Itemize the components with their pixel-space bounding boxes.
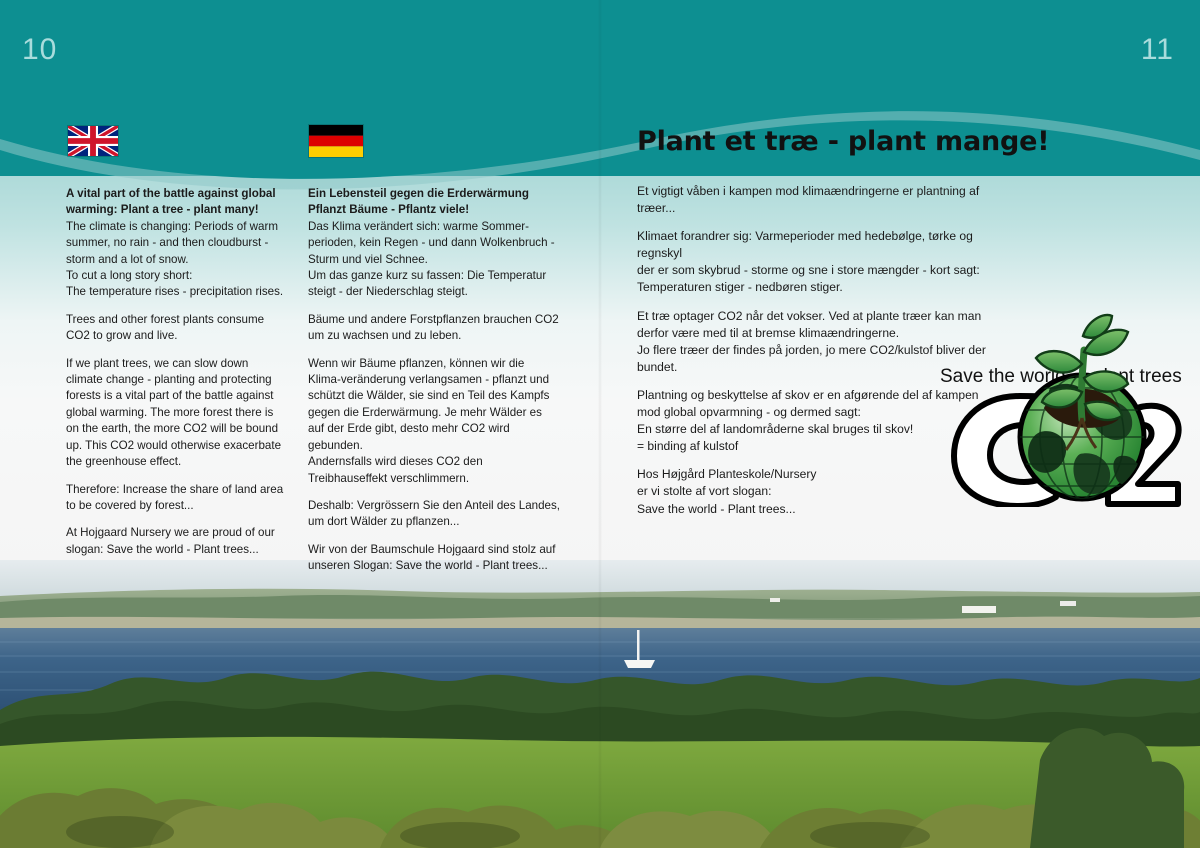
german-paragraph-3: Deshalb: Vergrössern Sie den Anteil des … [308, 498, 560, 531]
danish-paragraph-1: Klimaet forandrer sig: Varmeperioder med… [637, 228, 1012, 296]
landscape-photo-art [0, 560, 1200, 848]
header-wave-shape [0, 0, 1200, 200]
text-column-english: A vital part of the battle against globa… [66, 186, 284, 569]
brochure-spread: 10 11 Plant et træ - plant mange! A vita… [0, 0, 1200, 848]
english-paragraph-4: At Hojgaard Nursery we are proud of our … [66, 525, 284, 558]
german-paragraph-1: Bäume und andere Forstpflanzen brauchen … [308, 312, 560, 345]
germany-flag-icon [308, 124, 364, 158]
page-title: Plant et træ - plant mange! [637, 126, 1049, 157]
german-paragraph-2: Wenn wir Bäume pflanzen, können wir die … [308, 356, 560, 487]
german-title: Ein Lebensteil gegen die Erderwärmung Pf… [308, 186, 560, 301]
co2-save-the-world-logo: Save the world plant trees [932, 292, 1184, 507]
page-number-left: 10 [22, 33, 57, 67]
text-column-german: Ein Lebensteil gegen die Erderwärmung Pf… [308, 186, 560, 586]
english-paragraph-3: Therefore: Increase the share of land ar… [66, 482, 284, 515]
english-paragraph-0: The climate is changing: Periods of warm… [66, 220, 283, 299]
german-paragraph-4: Wir von der Baumschule Hojgaard sind sto… [308, 542, 560, 575]
english-paragraph-1: Trees and other forest plants consume CO… [66, 312, 284, 345]
english-title: A vital part of the battle against globa… [66, 186, 284, 301]
danish-paragraph-0: Et vigtigt våben i kampen mod klimaændri… [637, 183, 1012, 217]
english-paragraph-2: If we plant trees, we can slow down clim… [66, 356, 284, 471]
logo-stem [1081, 350, 1084, 420]
united-kingdom-flag-icon [67, 125, 119, 157]
page-number-right: 11 [1141, 33, 1174, 67]
german-paragraph-0: Das Klima verändert sich: warme Sommer-p… [308, 220, 555, 299]
landscape-photo [0, 560, 1200, 848]
